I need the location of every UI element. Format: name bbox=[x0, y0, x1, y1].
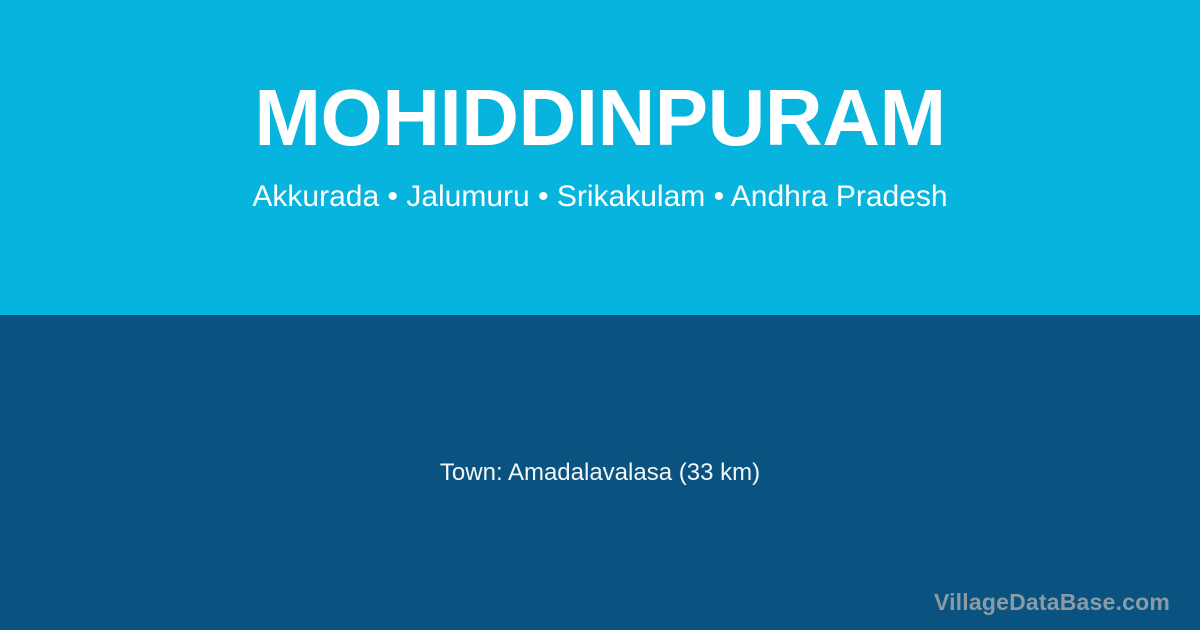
page-title: MOHIDDINPURAM bbox=[254, 78, 945, 158]
header-band: MOHIDDINPURAM Akkurada • Jalumuru • Srik… bbox=[0, 0, 1200, 315]
village-info-card: MOHIDDINPURAM Akkurada • Jalumuru • Srik… bbox=[0, 0, 1200, 630]
nearest-town-text: Town: Amadalavalasa (33 km) bbox=[0, 315, 1200, 630]
breadcrumb: Akkurada • Jalumuru • Srikakulam • Andhr… bbox=[252, 180, 947, 213]
site-watermark: VillageDataBase.com bbox=[934, 589, 1170, 616]
detail-band: Town: Amadalavalasa (33 km) VillageDataB… bbox=[0, 315, 1200, 630]
